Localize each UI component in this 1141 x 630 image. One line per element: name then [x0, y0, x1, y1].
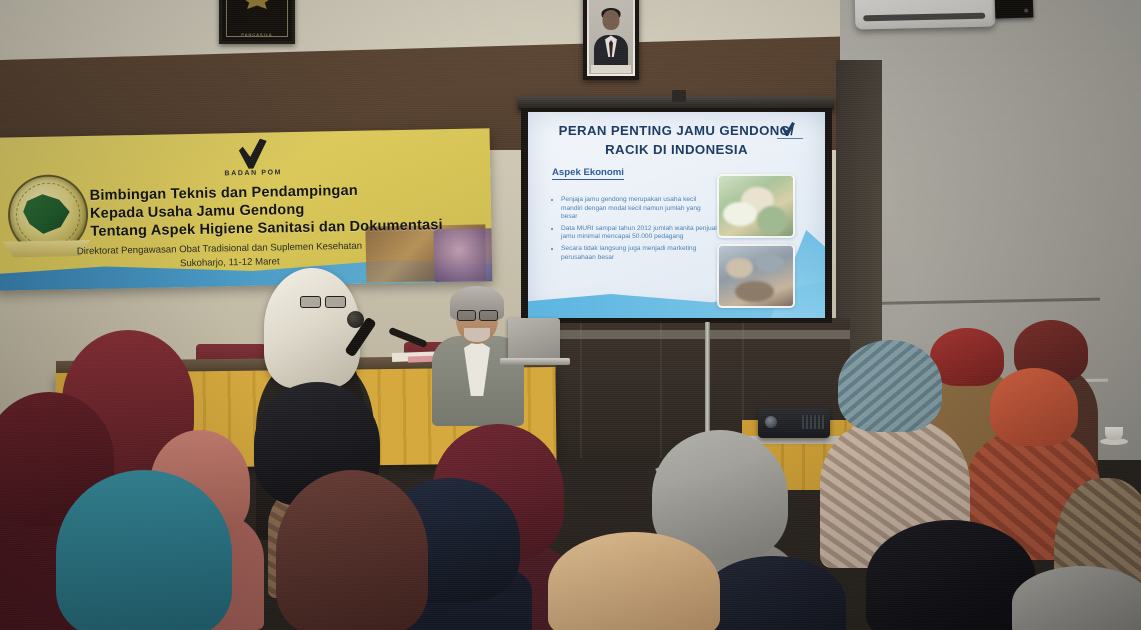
microphone-head	[347, 311, 364, 328]
slide-image-market	[717, 244, 795, 308]
badan-pom-swoosh-icon	[239, 139, 268, 170]
slide-bullet: Penjaja jamu gendong merupakan usaha kec…	[561, 196, 718, 222]
slide-title: PERAN PENTING JAMU GENDONG/ RACIK DI IND…	[528, 121, 825, 159]
coffee-cup	[1105, 427, 1123, 440]
banner-heading-line2: Kepada Usaha Jamu Gendong	[90, 202, 305, 222]
banner-subtitle-line1: Direktorat Pengawasan Obat Tradisional d…	[77, 241, 362, 257]
banner-heading-line1: Bimbingan Teknis dan Pendampingan	[90, 183, 358, 204]
event-banner: BADAN POM Bimbingan Teknis dan Pendampin…	[0, 128, 492, 291]
banner-photo-mortar	[433, 228, 492, 283]
badan-pom-label: BADAN POM	[207, 169, 299, 178]
laptop	[508, 318, 560, 360]
pancasila-caption: PANCASILA	[222, 32, 292, 37]
slide-image-jamu-seller	[717, 174, 795, 238]
panelist-beard	[464, 328, 490, 342]
wall-trim-line	[850, 298, 1100, 306]
conference-room-photo: PANCASILA BADAN POM Bimbingan Teknis dan…	[0, 0, 1141, 630]
presenter-glasses	[300, 296, 346, 306]
projector-lens-icon	[765, 416, 777, 428]
wall-speaker	[995, 0, 1034, 19]
panelist-glasses	[457, 310, 498, 319]
slide-section-heading: Aspek Ekonomi	[552, 167, 624, 180]
wall-ledge	[520, 330, 850, 339]
slide-bullet: Data MURI sampai tahun 2012 jumlah wanit…	[561, 225, 718, 242]
slide-title-line2: RACIK DI INDONESIA	[528, 140, 825, 159]
slide-bullet-list: Penjaja jamu gendong merupakan usaha kec…	[550, 196, 718, 265]
laptop-base	[500, 358, 570, 365]
badan-pom-logo: BADAN POM	[207, 138, 300, 178]
pancasila-frame: PANCASILA	[219, 0, 295, 44]
projector	[758, 408, 830, 438]
slide-title-line1: PERAN PENTING JAMU GENDONG/	[559, 123, 795, 138]
slide-bullet: Secara tidak langsung juga menjadi marke…	[561, 245, 718, 262]
slide-title-underline	[777, 138, 803, 139]
banner-subtitle-line2: Sukoharjo, 11-12 Maret	[180, 256, 280, 269]
projected-slide: PERAN PENTING JAMU GENDONG/ RACIK DI IND…	[528, 112, 825, 318]
projector-vent	[802, 415, 824, 429]
air-conditioner-unit	[855, 0, 996, 29]
screen-pull-knob	[672, 90, 686, 102]
official-portrait-frame	[583, 0, 639, 80]
presenter-hijab	[264, 268, 360, 388]
